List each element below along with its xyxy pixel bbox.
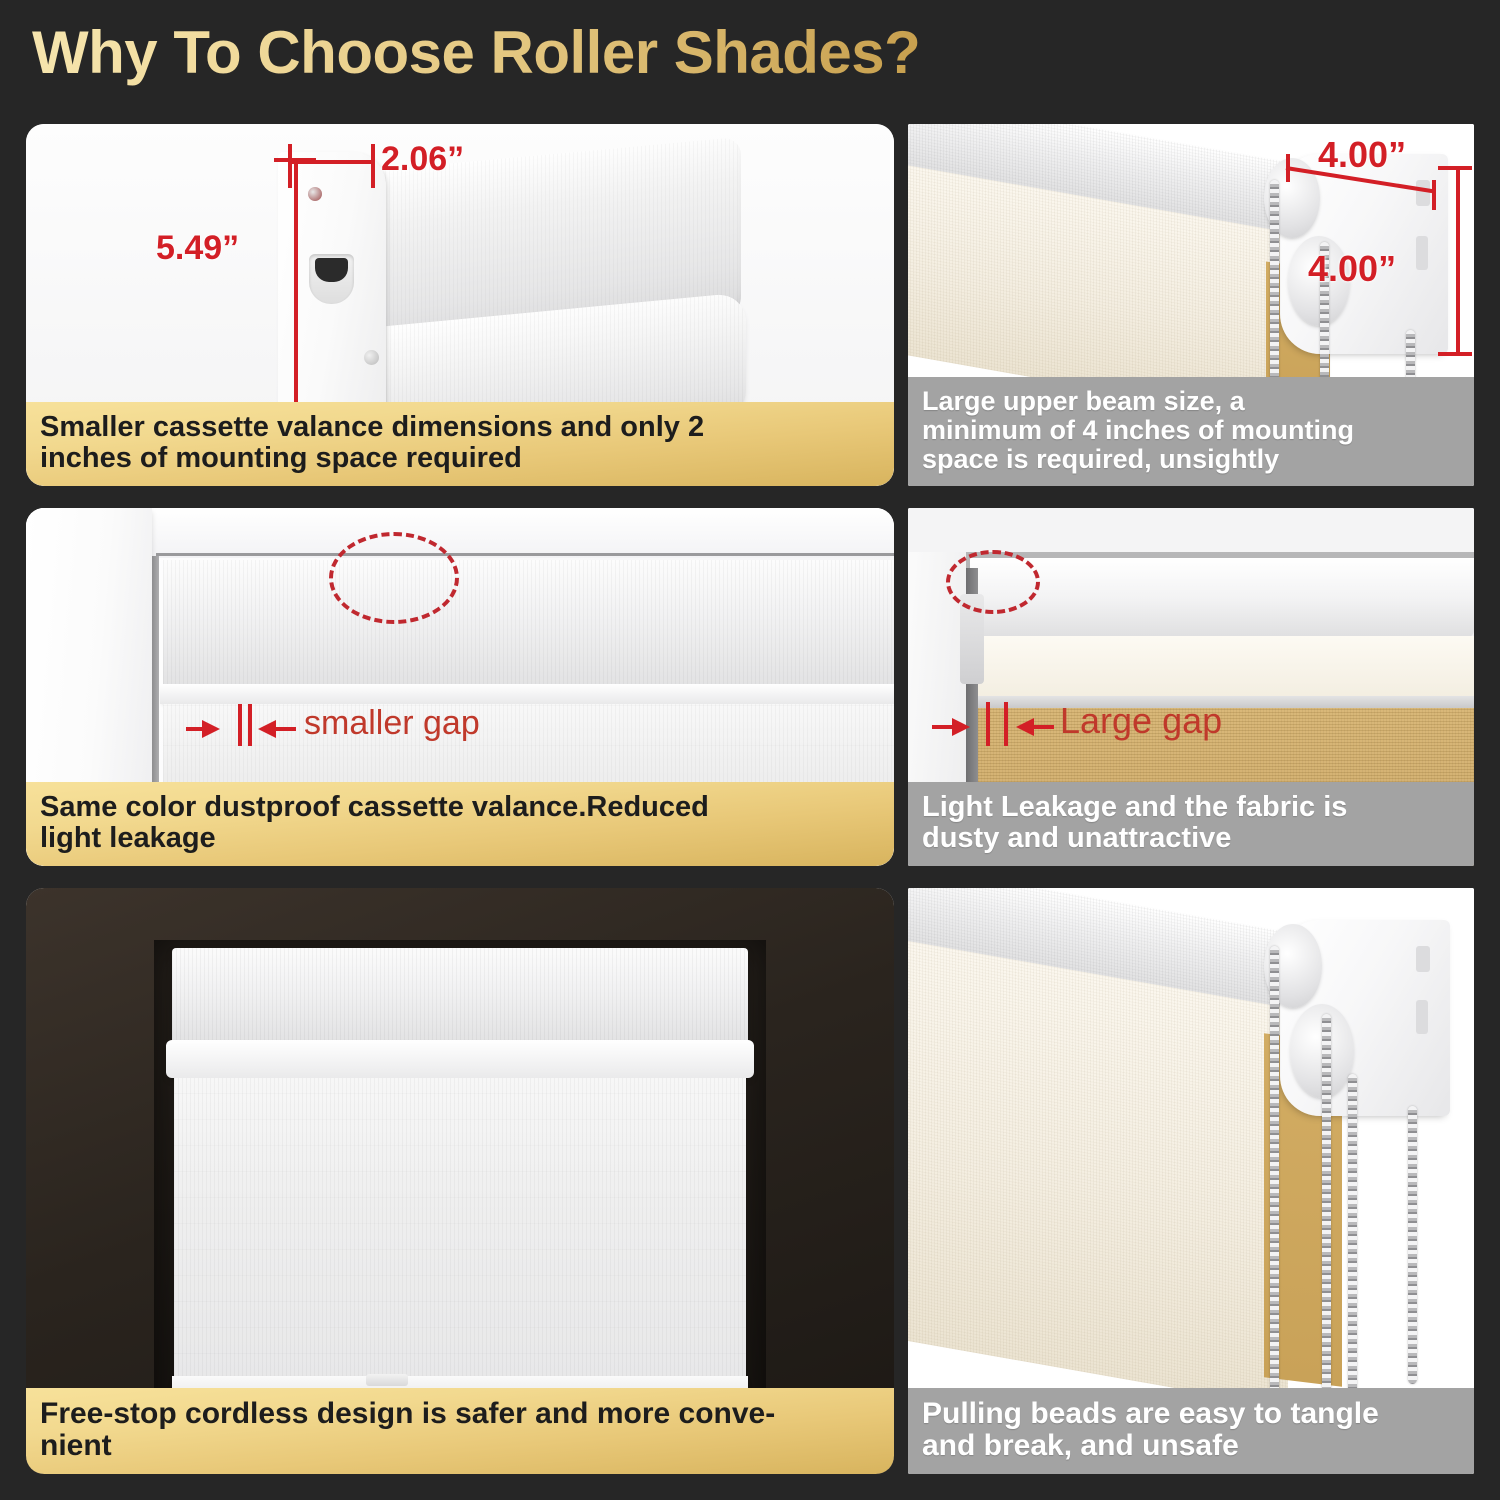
gap-tick-right — [1004, 702, 1008, 746]
highlight-circle-icon — [946, 550, 1040, 614]
bead-chain-4 — [1408, 1106, 1417, 1384]
caption-line-1: Light Leakage and the fabric is — [922, 792, 1460, 823]
bottom-rail — [974, 696, 1474, 708]
cassette-lip — [160, 684, 894, 704]
gap-tick-left — [238, 704, 242, 746]
width-dimension-label: 4.00” — [1318, 134, 1406, 176]
cassette-hairline — [156, 553, 894, 556]
wall-area — [908, 508, 1474, 556]
cassette-valance-face — [163, 560, 894, 688]
panel-dustproof-cassette: smaller gap Same color dustproof cassett… — [26, 508, 894, 866]
shade-fabric — [908, 939, 1288, 1408]
panel-light-leakage: Large gap Light Leakage and the fabric i… — [908, 508, 1474, 866]
caption-line-2: minimum of 4 inches of mounting — [922, 416, 1460, 445]
caption-line-3: space is required, unsightly — [922, 445, 1460, 474]
gap-callout-label: Large gap — [1060, 700, 1222, 742]
depth-dim-tick-right — [371, 144, 375, 188]
bracket-notch-top — [1416, 946, 1430, 972]
panel-pulling-beads-image — [908, 888, 1474, 1474]
bead-chain-1 — [1270, 946, 1279, 1398]
gap-tick-left — [986, 702, 990, 746]
caption-line-1: Smaller cassette valance dimensions and … — [40, 412, 880, 443]
gap-callout-label: smaller gap — [304, 704, 480, 743]
pull-tab — [366, 1374, 408, 1386]
caption-line-2: and break, and unsafe — [922, 1430, 1460, 1462]
panel-large-upper-beam-caption: Large upper beam size, a minimum of 4 in… — [908, 377, 1474, 486]
height-dimension-label: 4.00” — [1308, 248, 1396, 290]
panel-grid: 2.06” 5.49” Smaller cassette valance dim… — [0, 0, 1500, 1500]
bead-chain-3 — [1348, 1074, 1357, 1400]
gap-arrow-right-tail — [932, 725, 958, 729]
panel-dustproof-cassette-caption: Same color dustproof cassette valance.Re… — [26, 782, 894, 866]
valance-pin-icon — [308, 187, 322, 201]
window-frame-top — [26, 508, 894, 558]
caption-line-2: inches of mounting space required — [40, 443, 880, 474]
bracket-notch-bottom — [1416, 1000, 1428, 1034]
depth-dimension-label: 2.06” — [381, 140, 464, 179]
caption-line-2: dusty and unattractive — [922, 823, 1460, 854]
panel-cordless-design-image — [26, 888, 894, 1474]
height-dim-tick-top — [1438, 166, 1472, 170]
bracket-notch-bottom — [1416, 236, 1428, 270]
bracket-notch-top — [1416, 180, 1430, 206]
panel-cassette-valance: 2.06” 5.49” Smaller cassette valance dim… — [26, 124, 894, 486]
bead-chain-2 — [1322, 1014, 1331, 1400]
caption-line-2: nient — [40, 1430, 880, 1462]
fabric-top-band — [974, 636, 1474, 698]
caption-line-1: Free-stop cordless design is safer and m… — [40, 1398, 880, 1430]
infographic-root: Why To Choose Roller Shades? 2.06” — [0, 0, 1500, 1500]
cassette-headrail — [172, 948, 748, 1044]
roller-tube — [970, 558, 1474, 638]
valance-screw-icon — [364, 350, 379, 365]
cassette-lip — [166, 1040, 754, 1078]
caption-line-1: Same color dustproof cassette valance.Re… — [40, 792, 880, 823]
gap-arrow-right-tail — [186, 727, 208, 731]
gap-arrow-left-tail — [274, 727, 296, 731]
highlight-circle-icon — [329, 532, 459, 624]
gap-arrow-left-tail — [1032, 725, 1054, 729]
shade-fabric — [174, 1078, 746, 1380]
height-dim-line — [1456, 166, 1460, 356]
gap-tick-right — [248, 704, 252, 746]
depth-dim-tick-left — [288, 144, 292, 188]
panel-large-upper-beam: 4.00” 4.00” Large upper beam size, a min… — [908, 124, 1474, 486]
panel-cordless-design: Free-stop cordless design is safer and m… — [26, 888, 894, 1474]
panel-cordless-design-caption: Free-stop cordless design is safer and m… — [26, 1388, 894, 1474]
panel-pulling-beads-caption: Pulling beads are easy to tangle and bre… — [908, 1388, 1474, 1474]
caption-line-1: Large upper beam size, a — [922, 387, 1460, 416]
panel-pulling-beads: Pulling beads are easy to tangle and bre… — [908, 888, 1474, 1474]
caption-line-2: light leakage — [40, 823, 880, 854]
valance-slot — [309, 254, 354, 304]
panel-light-leakage-caption: Light Leakage and the fabric is dusty an… — [908, 782, 1474, 866]
width-dim-tick-right — [1432, 180, 1436, 210]
height-dim-tick-top — [274, 158, 316, 162]
panel-cassette-valance-caption: Smaller cassette valance dimensions and … — [26, 402, 894, 486]
height-dim-tick-bottom — [1438, 352, 1472, 356]
caption-line-1: Pulling beads are easy to tangle — [922, 1398, 1460, 1430]
height-dimension-label: 5.49” — [156, 229, 239, 268]
